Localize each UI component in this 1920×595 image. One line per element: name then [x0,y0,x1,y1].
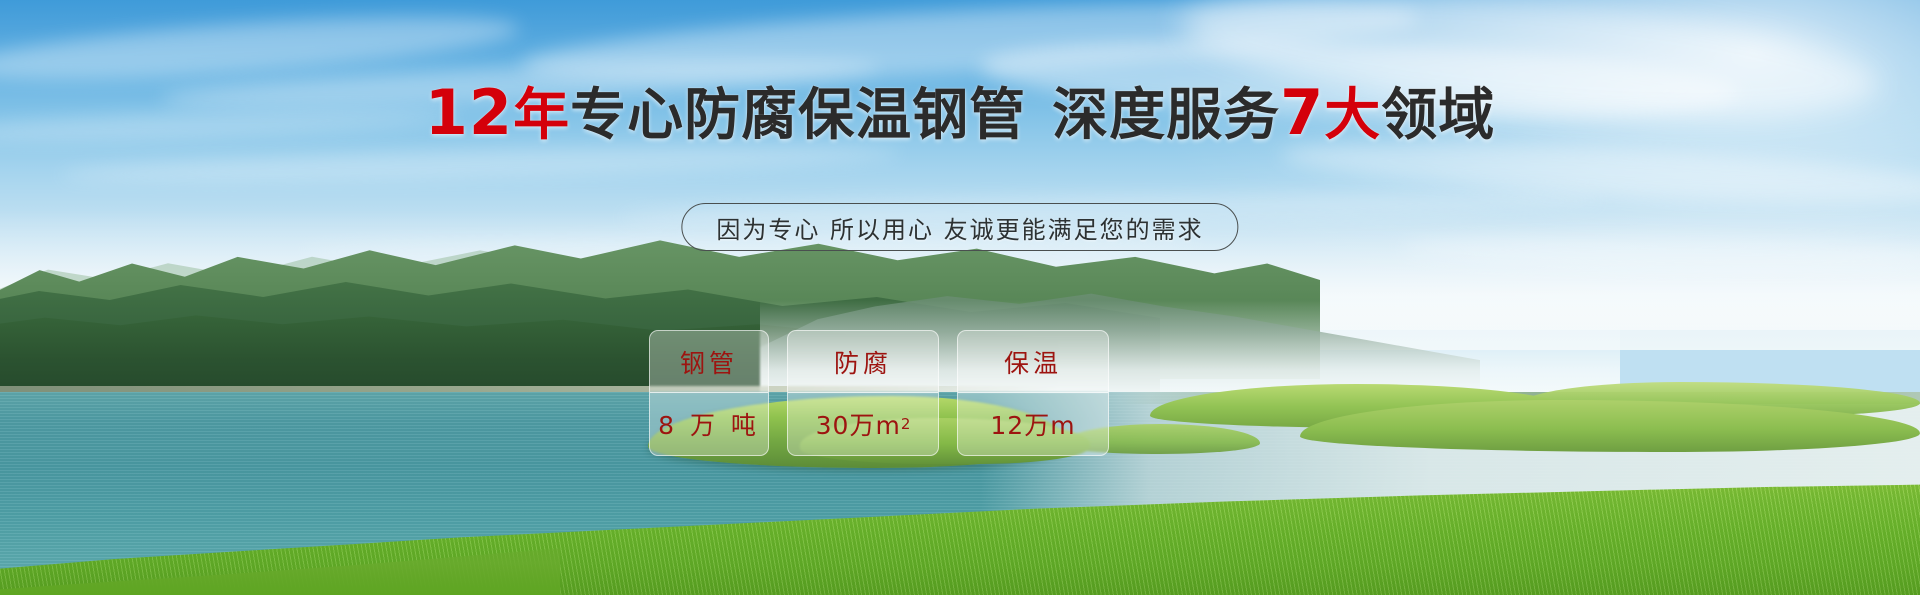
banner-subtitle-pill: 因为专心 所以用心 友诚更能满足您的需求 [681,203,1238,251]
banner-subtitle-text: 因为专心 所以用心 友诚更能满足您的需求 [716,210,1203,245]
stat-card-value: 8 万 吨 [650,393,768,455]
stat-cards: 钢管 8 万 吨 防腐 30万m2 保温 12万m [649,330,1109,456]
stat-card-steel-pipe[interactable]: 钢管 8 万 吨 [649,330,769,456]
stat-card-value-text: 30万m [816,406,901,442]
stat-card-anticorrosion[interactable]: 防腐 30万m2 [787,330,939,456]
headline-years-number: 12 [425,76,513,149]
stat-card-value-superscript: 2 [901,415,911,433]
stat-card-value: 12万m [958,393,1108,455]
stat-card-insulation[interactable]: 保温 12万m [957,330,1109,456]
stat-card-label: 防腐 [788,331,938,393]
stat-card-label: 保温 [958,331,1108,393]
stat-card-value: 30万m2 [788,393,938,455]
banner-headline: 12年专心防腐保温钢管深度服务7大领域 [0,82,1920,147]
stat-card-label: 钢管 [650,331,768,393]
headline-domains-unit: 大 [1324,83,1381,148]
headline-main-text: 专心防腐保温钢管 [570,83,1026,148]
stat-card-value-text: 12万m [990,406,1075,442]
headline-domains-number: 7 [1280,76,1324,149]
headline-domains-text: 领域 [1381,83,1495,148]
stat-card-value-text: 8 万 吨 [658,406,760,442]
hero-banner: 12年专心防腐保温钢管深度服务7大领域 因为专心 所以用心 友诚更能满足您的需求… [0,0,1920,595]
headline-service-text: 深度服务 [1052,83,1280,148]
headline-years-unit: 年 [513,83,570,148]
